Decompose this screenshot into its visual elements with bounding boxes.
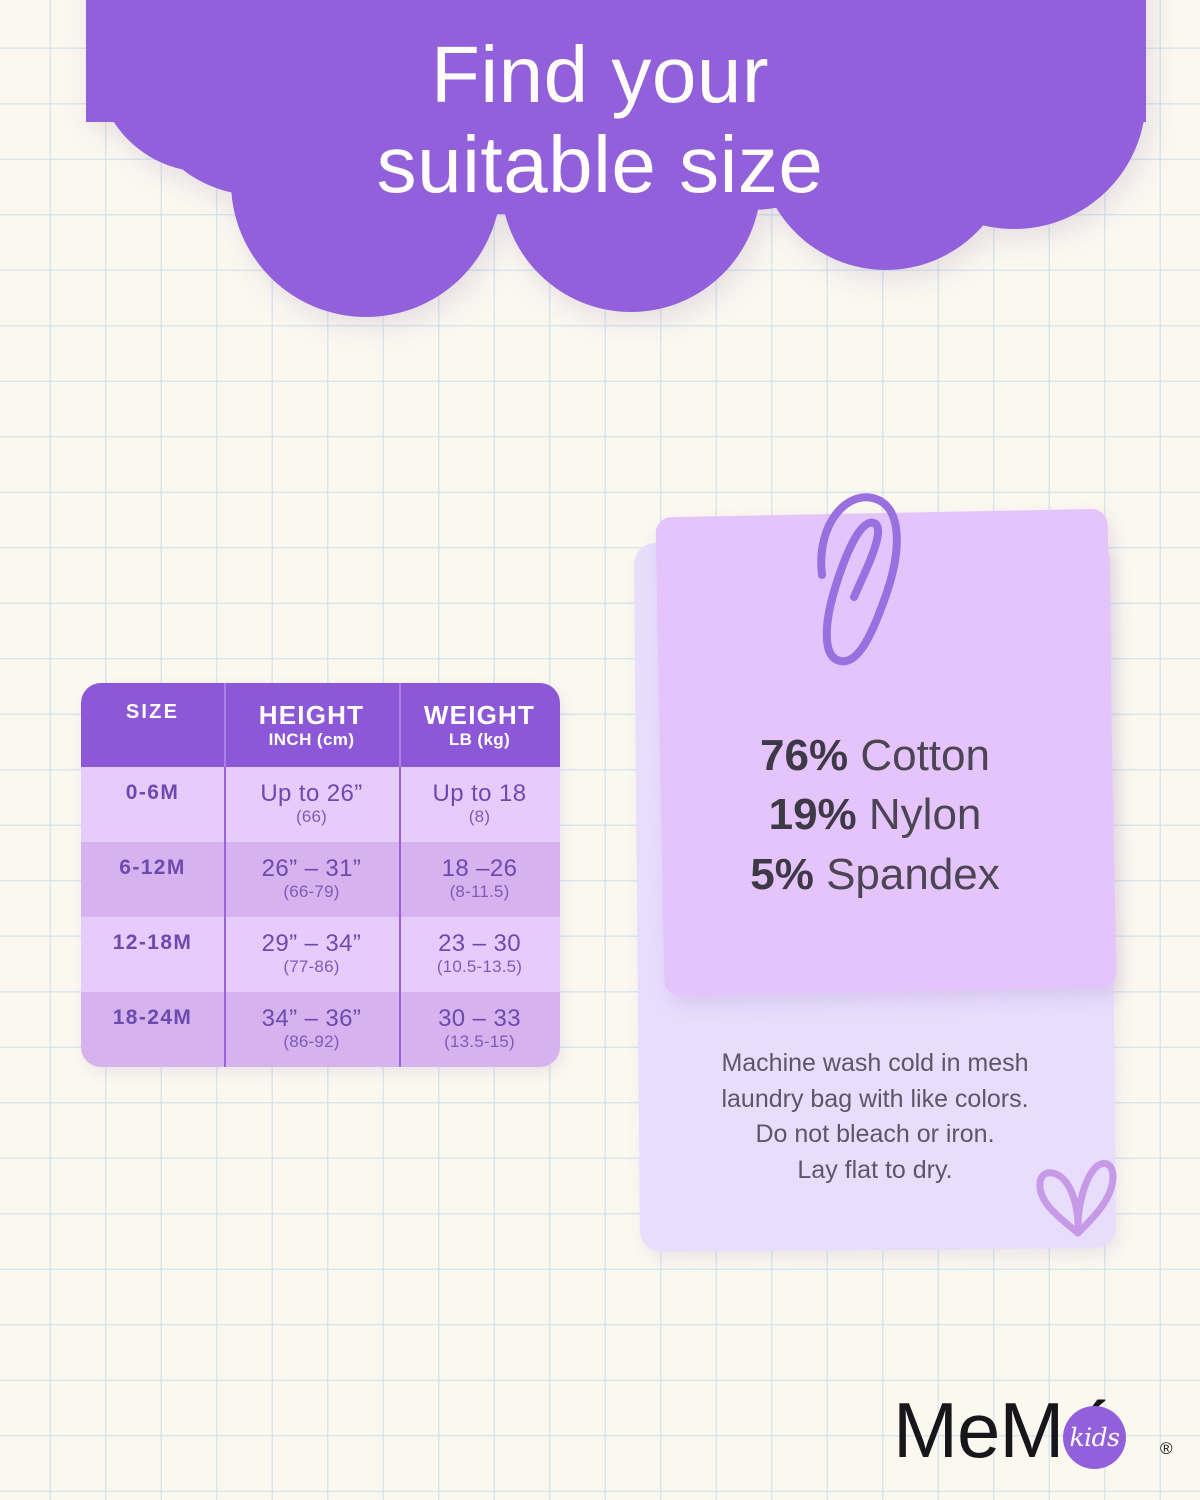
cell-height-inch: 34” – 36” (228, 1006, 395, 1033)
page-title-line-2: suitable size (0, 120, 1200, 210)
cell-weight: Up to 18 (8) (399, 767, 560, 842)
column-header-height: HEIGHT INCH (cm) (224, 683, 399, 767)
cell-weight-kg: (8) (403, 807, 556, 827)
column-header-size: SIZE (81, 683, 224, 767)
cell-height-cm: (66) (228, 807, 395, 827)
composition-percent: 19% (769, 790, 857, 839)
cell-weight-kg: (10.5-13.5) (403, 957, 556, 977)
cell-height-cm: (77-86) (228, 957, 395, 977)
cell-weight-kg: (8-11.5) (403, 882, 556, 902)
cell-size-value: 18-24M (85, 1006, 220, 1030)
cell-weight-lb: 23 – 30 (403, 931, 556, 958)
column-header-height-label: HEIGHT (228, 701, 395, 729)
care-line: Do not bleach or iron. (637, 1117, 1113, 1153)
column-divider-1 (224, 767, 226, 842)
cell-height: 34” – 36” (86-92) (224, 992, 399, 1067)
size-guide-page: Find your suitable size SIZE HEIGHT INCH… (0, 0, 1200, 1500)
column-divider-1 (224, 917, 226, 992)
composition-material: Cotton (860, 731, 990, 780)
column-divider-2 (399, 767, 401, 842)
cell-height-cm: (86-92) (228, 1032, 395, 1052)
cell-weight-kg: (13.5-15) (403, 1032, 556, 1052)
cell-height-cm: (66-79) (228, 882, 395, 902)
cell-height-inch: 29” – 34” (228, 931, 395, 958)
table-row: 18-24M 34” – 36” (86-92) 30 – 33 (13.5-1… (81, 992, 560, 1067)
table-body: 0-6M Up to 26” (66) Up to 18 (8) 6-12M (81, 767, 560, 1067)
cell-height: 29” – 34” (77-86) (224, 917, 399, 992)
table-header-row: SIZE HEIGHT INCH (cm) WEIGHT LB (kg) (81, 683, 560, 767)
cell-weight-lb: 30 – 33 (403, 1006, 556, 1033)
column-divider-1 (224, 683, 226, 767)
composition-material: Spandex (826, 850, 1000, 899)
cell-size: 6-12M (81, 842, 224, 917)
cell-size: 18-24M (81, 992, 224, 1067)
care-line: laundry bag with like colors. (637, 1082, 1113, 1118)
cell-weight: 23 – 30 (10.5-13.5) (399, 917, 560, 992)
page-title-line-1: Find your (0, 30, 1200, 120)
table-row: 6-12M 26” – 31” (66-79) 18 –26 (8-11.5) (81, 842, 560, 917)
column-header-weight: WEIGHT LB (kg) (399, 683, 560, 767)
kids-badge: kids (1063, 1406, 1126, 1469)
page-title: Find your suitable size (0, 30, 1200, 209)
size-chart-table: SIZE HEIGHT INCH (cm) WEIGHT LB (kg) 0-6… (81, 683, 560, 1067)
cell-size-value: 12-18M (85, 931, 220, 955)
composition-line: 76% Cotton (637, 726, 1113, 785)
column-header-size-label: SIZE (85, 701, 220, 724)
cell-height-inch: 26” – 31” (228, 856, 395, 883)
registered-trademark-icon: ® (1160, 1439, 1173, 1459)
cell-height: Up to 26” (66) (224, 767, 399, 842)
cell-size: 0-6M (81, 767, 224, 842)
cell-size-value: 6-12M (85, 856, 220, 880)
column-header-height-unit: INCH (cm) (228, 730, 395, 750)
cell-height: 26” – 31” (66-79) (224, 842, 399, 917)
cell-weight: 30 – 33 (13.5-15) (399, 992, 560, 1067)
brand-logo: MeM í kids ® (893, 1383, 1183, 1478)
column-divider-2 (399, 683, 401, 767)
column-divider-1 (224, 842, 226, 917)
heart-icon (1028, 1155, 1123, 1245)
composition-line: 19% Nylon (637, 785, 1113, 844)
cell-weight: 18 –26 (8-11.5) (399, 842, 560, 917)
cell-weight-lb: Up to 18 (403, 781, 556, 808)
fabric-composition: 76% Cotton 19% Nylon 5% Spandex (637, 726, 1113, 904)
column-divider-2 (399, 917, 401, 992)
composition-percent: 76% (760, 731, 848, 780)
cell-size-value: 0-6M (85, 781, 220, 805)
column-divider-2 (399, 992, 401, 1067)
column-divider-1 (224, 992, 226, 1067)
care-line: Machine wash cold in mesh (637, 1046, 1113, 1082)
table-row: 0-6M Up to 26” (66) Up to 18 (8) (81, 767, 560, 842)
composition-percent: 5% (750, 850, 814, 899)
kids-badge-label: kids (1063, 1406, 1126, 1469)
cell-size: 12-18M (81, 917, 224, 992)
composition-material: Nylon (869, 790, 982, 839)
table-row: 12-18M 29” – 34” (77-86) 23 – 30 (10.5-1… (81, 917, 560, 992)
composition-line: 5% Spandex (637, 845, 1113, 904)
cell-height-inch: Up to 26” (228, 781, 395, 808)
column-divider-2 (399, 842, 401, 917)
cell-weight-lb: 18 –26 (403, 856, 556, 883)
column-header-weight-label: WEIGHT (403, 701, 556, 729)
paperclip-icon (800, 483, 920, 683)
column-header-weight-unit: LB (kg) (403, 730, 556, 750)
